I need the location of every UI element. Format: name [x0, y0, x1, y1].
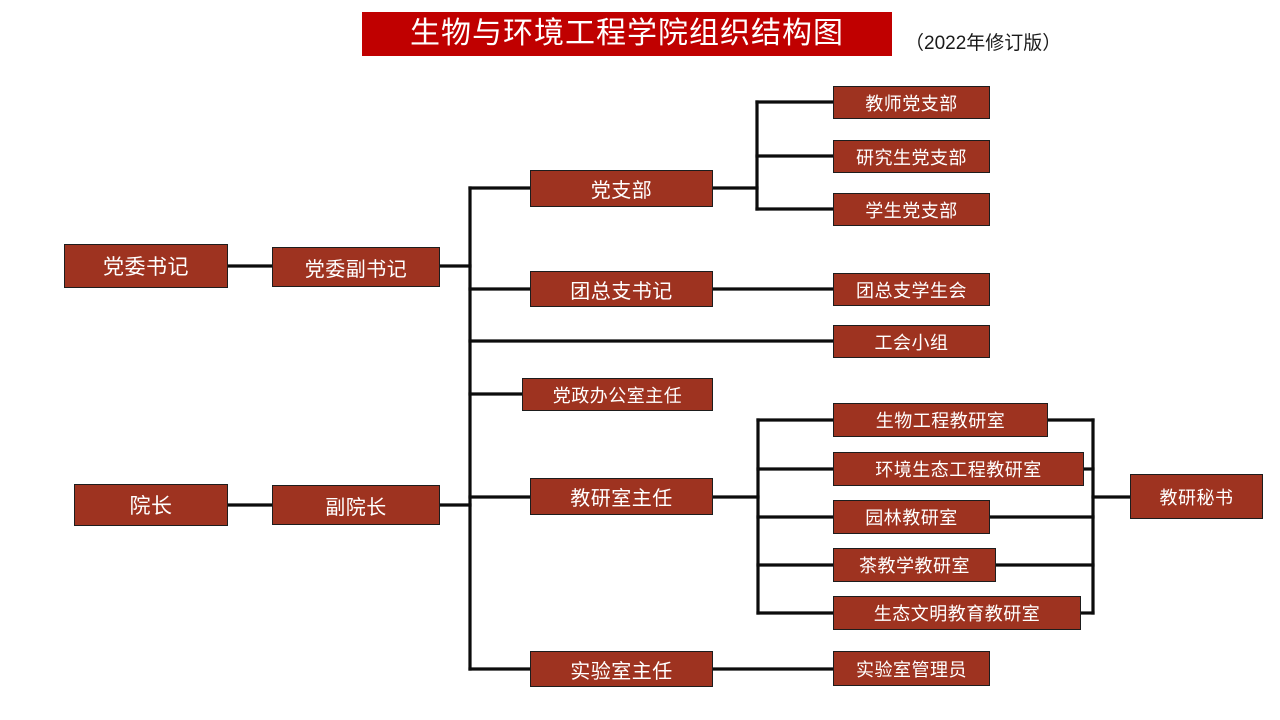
node-bioengineering-office[interactable]: 生物工程教研室	[833, 403, 1048, 437]
node-party-secretary[interactable]: 党委书记	[64, 244, 228, 288]
node-party-branch[interactable]: 党支部	[530, 170, 713, 207]
node-landscape-office[interactable]: 园林教研室	[833, 500, 990, 534]
node-youth-league-secretary[interactable]: 团总支书记	[530, 271, 713, 307]
node-teacher-branch[interactable]: 教师党支部	[833, 86, 990, 119]
node-grad-branch[interactable]: 研究生党支部	[833, 140, 990, 173]
node-deputy-party-secretary[interactable]: 党委副书记	[272, 247, 440, 287]
node-office-director[interactable]: 党政办公室主任	[522, 378, 713, 411]
page-subtitle: （2022年修订版）	[905, 28, 1061, 55]
node-vice-dean[interactable]: 副院长	[272, 485, 440, 525]
node-teaching-director[interactable]: 教研室主任	[530, 478, 713, 515]
node-environmental-ecology-office[interactable]: 环境生态工程教研室	[833, 452, 1084, 486]
page-title: 生物与环境工程学院组织结构图	[362, 12, 892, 56]
node-teaching-secretary[interactable]: 教研秘书	[1130, 474, 1263, 519]
node-league-student-union[interactable]: 团总支学生会	[833, 273, 990, 306]
node-union-group[interactable]: 工会小组	[833, 325, 990, 358]
org-chart-canvas: 生物与环境工程学院组织结构图 （2022年修订版） 党委书记 党委副书记 院长 …	[0, 0, 1280, 720]
node-dean[interactable]: 院长	[74, 484, 228, 526]
node-eco-civilization-office[interactable]: 生态文明教育教研室	[833, 596, 1081, 630]
node-tea-teaching-office[interactable]: 茶教学教研室	[833, 548, 996, 582]
node-student-branch[interactable]: 学生党支部	[833, 193, 990, 226]
connector-layer	[0, 0, 1280, 720]
node-lab-director[interactable]: 实验室主任	[530, 651, 713, 687]
node-lab-manager[interactable]: 实验室管理员	[833, 651, 990, 686]
